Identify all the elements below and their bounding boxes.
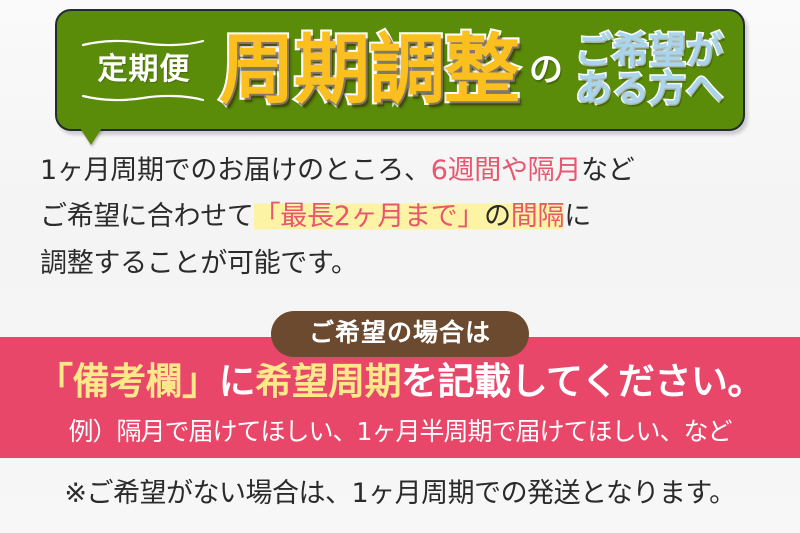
body-line-3: 調整することが可能です。 <box>40 241 760 287</box>
pink-main-accent-1: 「備考欄」 <box>36 360 219 403</box>
pink-band-main-message: 「備考欄」に希望周期を記載してください。 <box>0 362 800 403</box>
header-main-title: 周期調整 <box>219 32 519 108</box>
body-line-2: ご希望に合わせて「最長2ヶ月まで」の間隔に <box>40 194 760 240</box>
subscription-badge: 定期便 <box>81 39 207 102</box>
wave-decoration-bottom-icon <box>81 93 205 102</box>
pink-main-plain-1: に <box>219 360 256 403</box>
header-subtitle-line-1: ご希望が <box>575 32 723 70</box>
wave-decoration-top-icon <box>81 39 205 48</box>
header-subtitle: ご希望が ある方へ <box>575 32 723 109</box>
body-line-2-highlight-accent-1: 「最長2ヶ月まで」 <box>254 201 484 232</box>
body-line-1-accent: 6週間や隔月 <box>431 155 581 186</box>
request-case-pill-badge: ご希望の場合は <box>271 311 529 357</box>
body-line-2-part-2: に <box>564 201 591 232</box>
header-section: 定期便 周期調整 の ご希望が ある方へ <box>0 0 800 145</box>
header-particle: の <box>529 53 563 87</box>
header-content: 定期便 周期調整 の ご希望が ある方へ <box>55 9 745 131</box>
body-line-2-part-1: ご希望に合わせて <box>40 201 254 232</box>
pink-band-example-text: 例）隔月で届けてほしい、1ヶ月半周期で届けてほしい、など <box>0 418 800 446</box>
body-line-1: 1ヶ月周期でのお届けのところ、6週間や隔月など <box>40 148 760 194</box>
pink-main-plain-2: を記載してください。 <box>401 360 764 403</box>
header-subtitle-line-2: ある方へ <box>575 70 723 108</box>
footer-note: ※ご希望がない場合は、1ヶ月周期での発送となります。 <box>0 478 800 510</box>
body-description: 1ヶ月周期でのお届けのところ、6週間や隔月など ご希望に合わせて「最長2ヶ月まで… <box>0 148 800 287</box>
body-line-1-part-1: 1ヶ月周期でのお届けのところ、 <box>40 155 431 186</box>
body-line-2-highlight-accent-2: 間隔 <box>511 201 564 232</box>
promotional-banner: 定期便 周期調整 の ご希望が ある方へ 1ヶ月周期でのお届けのところ、6週間や… <box>0 0 800 533</box>
pink-main-accent-2: 希望周期 <box>255 360 401 403</box>
body-line-2-highlight-plain: の <box>484 201 511 232</box>
subscription-badge-label: 定期便 <box>81 55 207 85</box>
body-line-1-part-2: など <box>581 155 634 186</box>
